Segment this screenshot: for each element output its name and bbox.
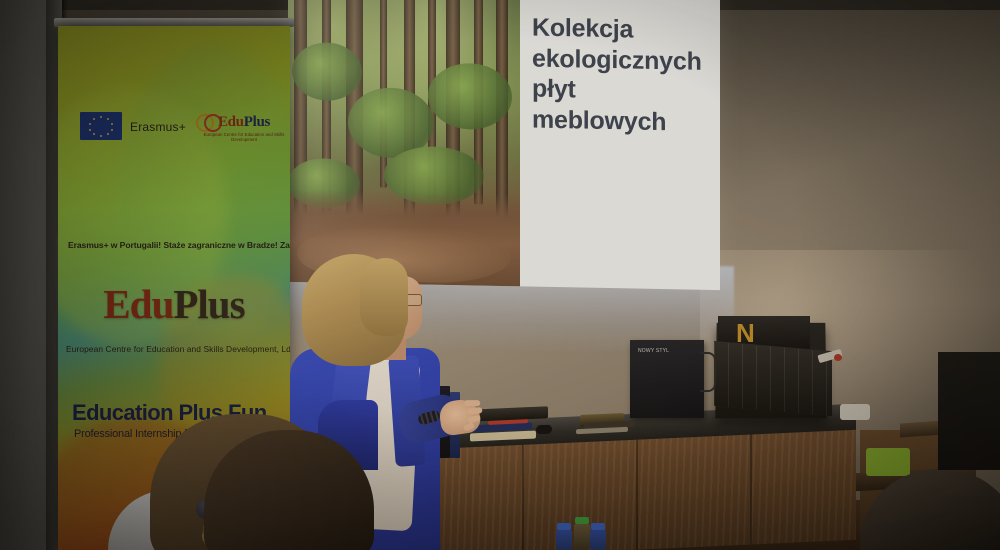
case-brand-label: NOWY STYL [638,348,669,354]
slide-heading-line-3: płyt [532,74,710,108]
bottle [556,530,572,550]
slide-heading-line-4: meblowych [532,104,710,138]
projected-slide: Kolekcja ekologicznych płyt meblowych [288,0,720,290]
bottle [574,524,590,550]
stand-sample-rack [714,341,832,416]
bottle-group [556,522,616,550]
slide-heading: Kolekcja ekologicznych płyt meblowych [532,13,710,138]
presentation-scene: Kolekcja ekologicznych płyt meblowych [0,0,1000,550]
red-ribbon [834,354,842,361]
brand-display-unit-right: N [938,352,1000,470]
foliage [292,42,362,101]
bottle-cap [557,523,571,530]
green-sample [866,448,910,476]
bottle-cap [591,523,605,530]
case-handle [700,352,716,392]
slide-heading-line-2: ekologicznych [532,43,710,77]
slide-heading-line-1: Kolekcja [532,13,710,47]
sample-rack-ridges [714,342,832,416]
bottle [590,530,606,550]
presenter-hair-front [360,258,408,336]
remote-control [536,425,552,435]
brochure [840,404,870,420]
bottle-cap [575,517,589,524]
foliage [428,63,512,131]
slide-forest-photo [288,0,520,286]
